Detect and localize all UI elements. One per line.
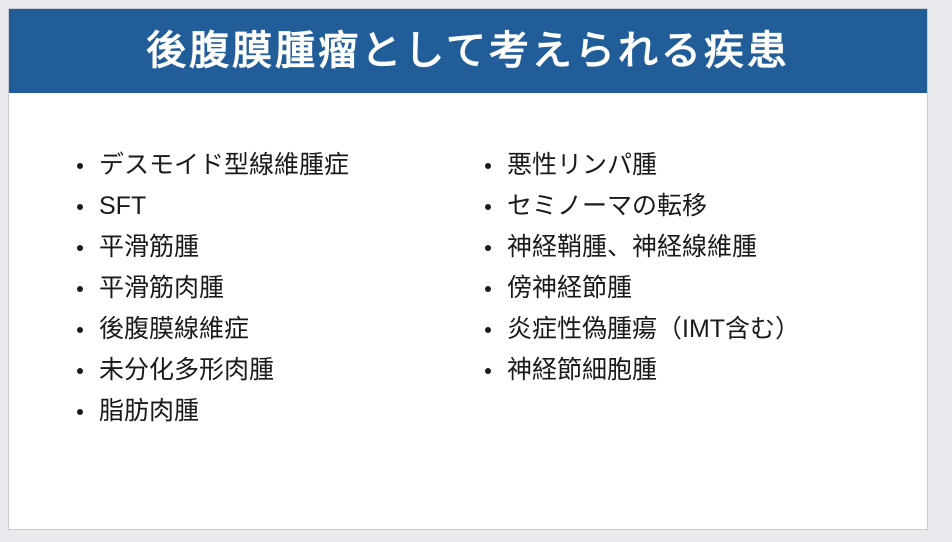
- list-item-label: 神経節細胞腫: [507, 350, 657, 391]
- slide-body: デスモイド型線維腫症 SFT 平滑筋腫 平滑筋肉腫 後腹膜線維症: [9, 93, 927, 529]
- disease-list-right: 悪性リンパ腫 セミノーマの転移 神経鞘腫、神経線維腫 傍神経節腫 炎症性偽腫瘍（…: [479, 145, 899, 391]
- bullet-dot-icon: [485, 368, 491, 374]
- list-item: 神経節細胞腫: [479, 350, 899, 391]
- list-item: 平滑筋肉腫: [71, 268, 471, 309]
- bullet-dot-icon: [77, 163, 83, 169]
- list-item: 平滑筋腫: [71, 227, 471, 268]
- bullet-dot-icon: [77, 409, 83, 415]
- list-item: 後腹膜線維症: [71, 309, 471, 350]
- list-item-label: 神経鞘腫、神経線維腫: [507, 227, 757, 268]
- bullet-dot-icon: [77, 204, 83, 210]
- list-item: SFT: [71, 186, 471, 227]
- list-item-label: デスモイド型線維腫症: [99, 145, 349, 186]
- bullet-dot-icon: [485, 286, 491, 292]
- bullet-dot-icon: [485, 327, 491, 333]
- list-item: 悪性リンパ腫: [479, 145, 899, 186]
- disease-list-left: デスモイド型線維腫症 SFT 平滑筋腫 平滑筋肉腫 後腹膜線維症: [71, 145, 471, 432]
- list-item-label: 平滑筋腫: [99, 227, 199, 268]
- list-item-label: SFT: [99, 186, 146, 227]
- list-item-label: 傍神経節腫: [507, 268, 632, 309]
- list-item: 未分化多形肉腫: [71, 350, 471, 391]
- list-item-label: 脂肪肉腫: [99, 391, 199, 432]
- list-item-label: 平滑筋肉腫: [99, 268, 224, 309]
- right-bullet-column: 悪性リンパ腫 セミノーマの転移 神経鞘腫、神経線維腫 傍神経節腫 炎症性偽腫瘍（…: [479, 145, 899, 391]
- slide-card: 後腹膜腫瘤として考えられる疾患 デスモイド型線維腫症 SFT 平滑筋腫: [8, 8, 928, 530]
- bullet-dot-icon: [485, 204, 491, 210]
- list-item-label: 未分化多形肉腫: [99, 350, 274, 391]
- bullet-dot-icon: [77, 368, 83, 374]
- list-item: デスモイド型線維腫症: [71, 145, 471, 186]
- page-title: 後腹膜腫瘤として考えられる疾患: [146, 31, 790, 71]
- list-item: 傍神経節腫: [479, 268, 899, 309]
- bullet-dot-icon: [485, 245, 491, 251]
- bullet-dot-icon: [77, 327, 83, 333]
- list-item-label: セミノーマの転移: [507, 186, 707, 227]
- bullet-dot-icon: [77, 245, 83, 251]
- list-item-label: 悪性リンパ腫: [507, 145, 657, 186]
- bullet-dot-icon: [485, 163, 491, 169]
- title-banner: 後腹膜腫瘤として考えられる疾患: [9, 9, 927, 93]
- list-item: セミノーマの転移: [479, 186, 899, 227]
- bullet-dot-icon: [77, 286, 83, 292]
- list-item: 脂肪肉腫: [71, 391, 471, 432]
- list-item-label: 炎症性偽腫瘍（IMT含む）: [507, 309, 800, 350]
- list-item-label: 後腹膜線維症: [99, 309, 249, 350]
- list-item: 炎症性偽腫瘍（IMT含む）: [479, 309, 899, 350]
- list-item: 神経鞘腫、神経線維腫: [479, 227, 899, 268]
- left-bullet-column: デスモイド型線維腫症 SFT 平滑筋腫 平滑筋肉腫 後腹膜線維症: [71, 145, 471, 432]
